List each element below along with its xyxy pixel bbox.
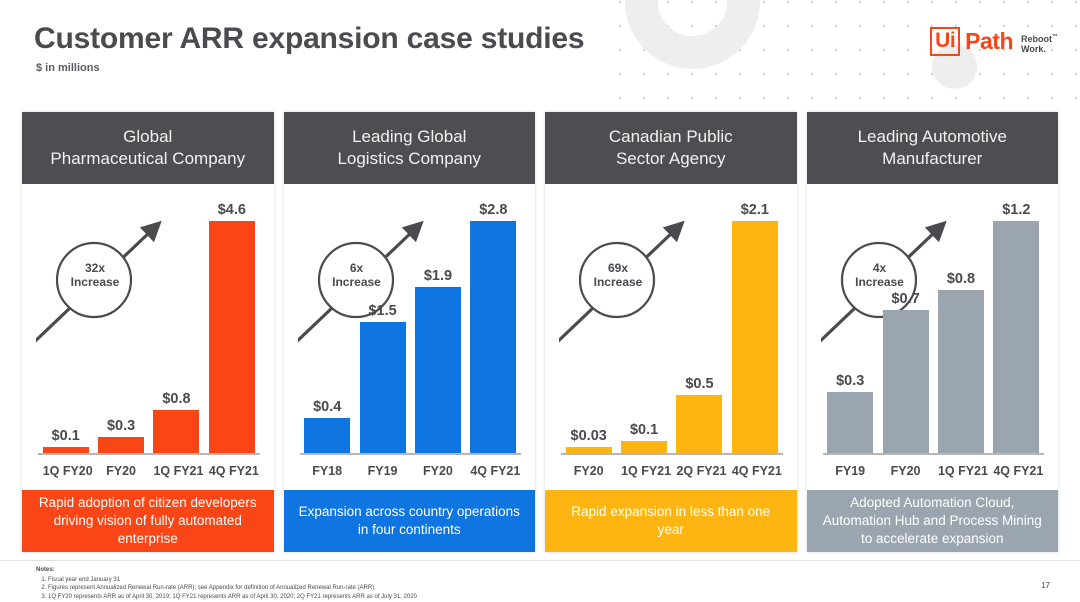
footnotes-label: Notes: — [36, 566, 417, 575]
bar — [827, 392, 873, 453]
bar — [621, 441, 667, 453]
panel-footer-text: Rapid expansion in less than one year — [557, 503, 785, 539]
bar-item: $0.3 — [98, 202, 144, 453]
panel-footer-note: Expansion across country operations in f… — [284, 490, 536, 552]
panel-footer-text: Adopted Automation Cloud, Automation Hub… — [819, 494, 1047, 548]
x-axis-tick-label: FY20 — [883, 464, 929, 478]
x-axis-line — [823, 453, 1045, 455]
bar-item: $0.5 — [676, 202, 722, 453]
bar-value-label: $4.6 — [218, 202, 246, 218]
bar-value-label: $0.3 — [107, 418, 135, 434]
x-axis-tick-label: 4Q FY21 — [993, 464, 1039, 478]
bar-item: $2.1 — [732, 202, 778, 453]
x-axis-tick-label: FY19 — [827, 464, 873, 478]
bar-value-label: $1.9 — [424, 268, 452, 284]
footnote-item: 1Q FY20 represents ARR as of April 30, 2… — [48, 593, 417, 602]
footnote-item: Figures represent Annualized Renewal Run… — [48, 584, 417, 593]
trademark-icon: ™ — [1052, 34, 1058, 40]
panel-title-text: Leading Global — [337, 126, 481, 148]
bar-group: $0.1$0.3$0.8$4.6 — [38, 202, 260, 453]
bar — [360, 322, 406, 453]
x-axis-tick-label: 4Q FY21 — [209, 464, 255, 478]
bar — [304, 418, 350, 453]
x-axis-line — [561, 453, 783, 455]
case-study-panel: Canadian PublicSector Agency69xIncrease$… — [545, 112, 797, 552]
panel-title-text: Sector Agency — [609, 148, 733, 170]
x-axis-tick-label: FY20 — [566, 464, 612, 478]
bar-value-label: $1.2 — [1002, 202, 1030, 218]
logo-tagline-line1: Reboot — [1021, 34, 1052, 44]
bar-value-label: $0.3 — [836, 373, 864, 389]
bar-value-label: $2.8 — [479, 202, 507, 218]
panel-chart-area: 32xIncrease$0.1$0.3$0.8$4.61Q FY20FY201Q… — [22, 184, 274, 490]
x-axis-labels: FY201Q FY212Q FY214Q FY21 — [561, 464, 783, 478]
bar-value-label: $0.03 — [571, 428, 607, 444]
bar-item: $2.8 — [470, 202, 516, 453]
footer-divider — [0, 560, 1080, 561]
bar-value-label: $0.7 — [891, 291, 919, 307]
case-study-panel: GlobalPharmaceutical Company32xIncrease$… — [22, 112, 274, 552]
bar — [98, 437, 144, 453]
x-axis-tick-label: 4Q FY21 — [470, 464, 516, 478]
x-axis-line — [38, 453, 260, 455]
panel-title: Canadian PublicSector Agency — [545, 112, 797, 184]
x-axis-labels: FY19FY201Q FY214Q FY21 — [823, 464, 1045, 478]
bar-item: $0.3 — [827, 202, 873, 453]
x-axis-tick-label: FY20 — [98, 464, 144, 478]
x-axis-tick-label: FY19 — [360, 464, 406, 478]
bar-chart: 6xIncrease$0.4$1.5$1.9$2.8FY18FY19FY204Q… — [284, 184, 536, 490]
logo-path-text: Path — [965, 28, 1013, 55]
bar-item: $0.4 — [304, 202, 350, 453]
x-axis-tick-label: 1Q FY20 — [43, 464, 89, 478]
x-axis-tick-label: 1Q FY21 — [938, 464, 984, 478]
bar-item: $4.6 — [209, 202, 255, 453]
page-number: 17 — [1041, 581, 1050, 590]
x-axis-tick-label: 1Q FY21 — [153, 464, 199, 478]
panel-title: GlobalPharmaceutical Company — [22, 112, 274, 184]
bar-item: $0.8 — [153, 202, 199, 453]
case-study-panel: Leading GlobalLogistics Company6xIncreas… — [284, 112, 536, 552]
bar — [209, 221, 255, 453]
x-axis-tick-label: FY18 — [304, 464, 350, 478]
case-study-panel: Leading AutomotiveManufacturer4xIncrease… — [807, 112, 1059, 552]
slide: Customer ARR expansion case studies $ in… — [0, 0, 1080, 602]
x-axis-tick-label: FY20 — [415, 464, 461, 478]
logo-ui-mark: Ui — [930, 27, 960, 56]
panel-title: Leading GlobalLogistics Company — [284, 112, 536, 184]
bar-value-label: $0.8 — [162, 391, 190, 407]
logo-tagline-line2: Work. — [1021, 44, 1046, 54]
x-axis-tick-label: 2Q FY21 — [676, 464, 722, 478]
panel-title-text: Logistics Company — [337, 148, 481, 170]
panel-title-text: Leading Automotive — [858, 126, 1007, 148]
bar-value-label: $0.8 — [947, 271, 975, 287]
bar-item: $1.2 — [993, 202, 1039, 453]
x-axis-labels: 1Q FY20FY201Q FY214Q FY21 — [38, 464, 260, 478]
uipath-logo: Ui Path Reboot™ Work. — [930, 27, 1058, 56]
page-title: Customer ARR expansion case studies — [34, 22, 584, 56]
panel-title: Leading AutomotiveManufacturer — [807, 112, 1059, 184]
panel-footer-note: Rapid adoption of citizen developers dri… — [22, 490, 274, 552]
x-axis-tick-label: 4Q FY21 — [732, 464, 778, 478]
bar-item: $0.7 — [883, 202, 929, 453]
panel-footer-note: Adopted Automation Cloud, Automation Hub… — [807, 490, 1059, 552]
bar-group: $0.03$0.1$0.5$2.1 — [561, 202, 783, 453]
logo-tagline: Reboot™ Work. — [1021, 32, 1058, 54]
x-axis-labels: FY18FY19FY204Q FY21 — [300, 464, 522, 478]
bar — [153, 410, 199, 453]
panel-chart-area: 69xIncrease$0.03$0.1$0.5$2.1FY201Q FY212… — [545, 184, 797, 490]
page-subtitle: $ in millions — [36, 62, 100, 74]
bar-value-label: $2.1 — [741, 202, 769, 218]
bar-item: $0.1 — [621, 202, 667, 453]
panel-footer-note: Rapid expansion in less than one year — [545, 490, 797, 552]
case-study-panels: GlobalPharmaceutical Company32xIncrease$… — [22, 112, 1058, 552]
bar — [938, 290, 984, 453]
bar-item: $0.1 — [43, 202, 89, 453]
footnote-item: Fiscal year end January 31 — [48, 576, 417, 585]
bar — [732, 221, 778, 453]
panel-chart-area: 4xIncrease$0.3$0.7$0.8$1.2FY19FY201Q FY2… — [807, 184, 1059, 490]
x-axis-tick-label: 1Q FY21 — [621, 464, 667, 478]
panel-title-text: Manufacturer — [858, 148, 1007, 170]
panel-title-text: Global — [50, 126, 245, 148]
bar-item: $0.03 — [566, 202, 612, 453]
bar-item: $1.9 — [415, 202, 461, 453]
panel-footer-text: Expansion across country operations in f… — [296, 503, 524, 539]
bar-chart: 69xIncrease$0.03$0.1$0.5$2.1FY201Q FY212… — [545, 184, 797, 490]
footnotes: Notes: Fiscal year end January 31Figures… — [36, 566, 417, 601]
panel-title-text: Canadian Public — [609, 126, 733, 148]
panel-footer-text: Rapid adoption of citizen developers dri… — [34, 494, 262, 548]
bar-chart: 32xIncrease$0.1$0.3$0.8$4.61Q FY20FY201Q… — [22, 184, 274, 490]
bar-value-label: $0.1 — [630, 422, 658, 438]
x-axis-line — [300, 453, 522, 455]
bar-chart: 4xIncrease$0.3$0.7$0.8$1.2FY19FY201Q FY2… — [807, 184, 1059, 490]
bar — [415, 287, 461, 453]
footnotes-list: Fiscal year end January 31Figures repres… — [36, 576, 417, 602]
bar-value-label: $0.5 — [685, 376, 713, 392]
bar-value-label: $1.5 — [368, 303, 396, 319]
bar-group: $0.3$0.7$0.8$1.2 — [823, 202, 1045, 453]
bar-value-label: $0.1 — [52, 428, 80, 444]
bar-item: $0.8 — [938, 202, 984, 453]
panel-title-text: Pharmaceutical Company — [50, 148, 245, 170]
bar — [993, 221, 1039, 453]
bar — [676, 395, 722, 453]
panel-chart-area: 6xIncrease$0.4$1.5$1.9$2.8FY18FY19FY204Q… — [284, 184, 536, 490]
bar-group: $0.4$1.5$1.9$2.8 — [300, 202, 522, 453]
bar-value-label: $0.4 — [313, 399, 341, 415]
bar — [470, 221, 516, 453]
bar-item: $1.5 — [360, 202, 406, 453]
bar — [883, 310, 929, 453]
